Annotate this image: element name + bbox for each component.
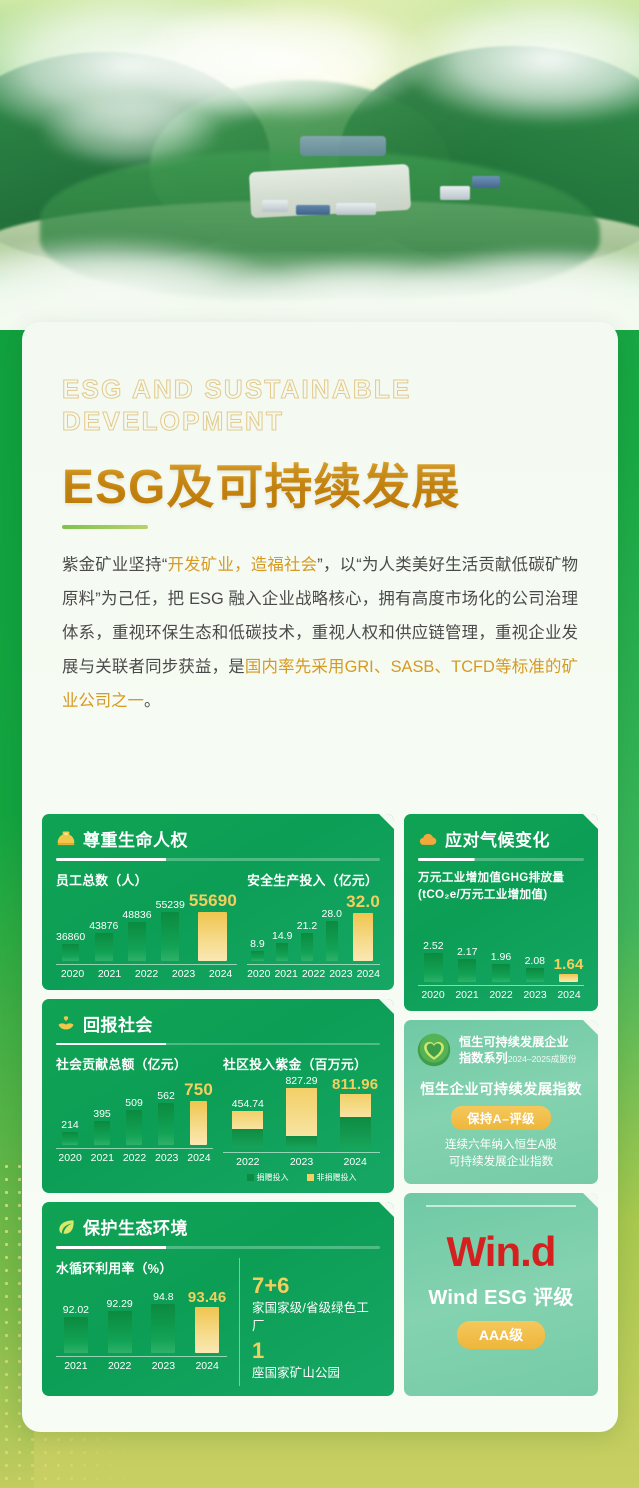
- bar-value: 43876: [89, 920, 118, 932]
- bar-highlight: [559, 974, 577, 981]
- card-header: 保护生态环境: [56, 1214, 380, 1246]
- header-divider: [56, 1246, 380, 1249]
- bar-value-highlight: 811.96: [332, 1076, 378, 1093]
- ecology-row: 水循环利用率（%） 92.02 92.29 94.8 93.46 2021 20…: [56, 1258, 380, 1386]
- bar-value: 92.02: [63, 1304, 89, 1316]
- cloud: [40, 96, 220, 166]
- chart-employee-total: 员工总数（人） 36860 43876 48836 55239 55690 20…: [56, 870, 237, 980]
- x-tick: 2024: [330, 1156, 380, 1168]
- x-tick: 2024: [554, 989, 584, 1001]
- x-tick: 2024: [187, 1360, 227, 1372]
- bar-value: 454.74: [232, 1098, 264, 1110]
- cloud-icon: [418, 829, 438, 849]
- card-title: 应对气候变化: [445, 826, 550, 851]
- x-tick-labels: 2020 2021 2022 2023 2024: [418, 989, 584, 1001]
- hs-sub-line2: 可持续发展企业指数: [416, 1153, 586, 1170]
- chart-ghg-intensity: 万元工业增加值GHG排放量 (tCO₂e/万元工业增加值) 2.52 2.17 …: [418, 870, 584, 1001]
- chart-title-line1: 万元工业增加值GHG排放量: [418, 870, 584, 885]
- bar-column: 562: [152, 1075, 180, 1145]
- segment-donation: [232, 1129, 263, 1149]
- bar-value-highlight: 1.64: [554, 956, 584, 973]
- card-header: 应对气候变化: [418, 826, 584, 858]
- chart-title: 社会贡献总额（亿元）: [56, 1054, 213, 1073]
- bar-value-highlight: 750: [184, 1080, 213, 1100]
- x-axis: [56, 964, 237, 965]
- hs-line1: 恒生可持续发展企业: [459, 1034, 577, 1050]
- x-tick: 2021: [452, 989, 482, 1001]
- stacked-bar-plot: 454.74 827.29: [223, 1075, 380, 1149]
- bar: [64, 1317, 88, 1353]
- chart-title: 社区投入紫金（百万元）: [223, 1054, 380, 1073]
- bar-column: 93.46: [187, 1279, 227, 1353]
- hs-line2: 指数系列2024–2025成股份: [459, 1050, 577, 1066]
- legend-item-donation: 捐赠投入: [247, 1172, 289, 1183]
- bar-value: 48836: [122, 909, 151, 921]
- content-panel: ESG AND SUSTAINABLE DEVELOPMENT ESG及可持续发…: [22, 322, 618, 1432]
- building: [296, 205, 330, 215]
- bar-highlight: [353, 913, 373, 961]
- bar-column: 1.64: [553, 916, 584, 982]
- bar: [62, 1132, 79, 1145]
- x-tick-labels: 2020 2021 2022 2023 2024: [247, 968, 380, 980]
- bar: [251, 951, 263, 960]
- bar-value: 1.96: [491, 951, 511, 963]
- x-tick-labels: 2020 2021 2022 2023 2024: [56, 1152, 213, 1164]
- x-axis: [56, 1356, 227, 1357]
- hero-landscape-image: [0, 0, 639, 330]
- bar-plot: 92.02 92.29 94.8 93.46: [56, 1279, 227, 1353]
- bar: [108, 1311, 132, 1352]
- bar: [492, 964, 510, 981]
- bar-column: 48836: [122, 891, 151, 961]
- chart-title: 安全生产投入（亿元）: [247, 870, 380, 889]
- vertical-divider: [239, 1258, 240, 1386]
- x-tick: 2021: [56, 1360, 96, 1372]
- intro-text-3: 。: [144, 692, 160, 710]
- bar-plot: 214 395 509 562 750: [56, 1075, 213, 1145]
- x-tick: 2022: [100, 1360, 140, 1372]
- legend-swatch-green: [247, 1174, 254, 1181]
- bar-highlight: [190, 1101, 207, 1145]
- segment-non-donation: [286, 1088, 317, 1136]
- bar-column: 14.9: [272, 891, 293, 961]
- chart-safety-investment: 安全生产投入（亿元） 8.9 14.9 21.2 28.0 32.0 2020 …: [247, 870, 380, 980]
- title-block: ESG AND SUSTAINABLE DEVELOPMENT ESG及可持续发…: [22, 322, 618, 529]
- x-axis: [223, 1152, 380, 1153]
- x-tick: 2020: [247, 968, 270, 980]
- chart-title: 员工总数（人）: [56, 870, 237, 889]
- x-tick: 2022: [223, 1156, 273, 1168]
- bar-column: 509: [120, 1075, 148, 1145]
- bar: [424, 953, 442, 982]
- building: [440, 186, 470, 200]
- bar-value-highlight: 93.46: [188, 1289, 227, 1306]
- heart-in-hand-icon: [56, 1013, 76, 1033]
- intro-paragraph: 紫金矿业坚持“开发矿业，造福社会”，以“为人类美好生活贡献低碳矿物原料”为己任，…: [62, 549, 578, 718]
- bar-column: 55239: [156, 891, 185, 961]
- hang-seng-headline: 恒生企业可持续发展指数: [416, 1078, 586, 1099]
- bar: [126, 1110, 143, 1145]
- x-axis: [247, 964, 380, 965]
- bar: [128, 922, 146, 961]
- bar-value: 214: [61, 1119, 79, 1131]
- mine-park-count: 1: [252, 1339, 380, 1362]
- card-title: 尊重生命人权: [83, 826, 188, 851]
- chart-title-line2: (tCO₂e/万元工业增加值): [418, 887, 584, 902]
- x-tick: 2020: [56, 1152, 84, 1164]
- wind-divider: [426, 1205, 576, 1207]
- hard-hat-icon: [56, 829, 76, 849]
- bar-value: 2.52: [423, 940, 443, 952]
- intro-text-1: 紫金矿业坚持“: [62, 556, 167, 574]
- bar-value: 509: [125, 1097, 143, 1109]
- building: [262, 200, 288, 212]
- bar-column: 2.17: [452, 916, 483, 982]
- bar: [62, 944, 80, 961]
- bar-value: 28.0: [322, 908, 342, 920]
- bar-value: 92.29: [106, 1298, 132, 1310]
- bar-value: 55239: [156, 899, 185, 911]
- green-factory-label: 家国家级/省级绿色工厂: [252, 1298, 380, 1334]
- x-tick: 2022: [130, 968, 163, 980]
- x-tick: 2023: [277, 1156, 327, 1168]
- bar-column: 2.08: [519, 916, 550, 982]
- bar-value: 14.9: [272, 930, 292, 942]
- stacked-bar: [286, 1088, 317, 1149]
- x-tick: 2023: [167, 968, 200, 980]
- hang-seng-rating-badge: 保持A–评级: [451, 1106, 551, 1130]
- x-tick-labels: 2020 2021 2022 2023 2024: [56, 968, 237, 980]
- bar-column: 55690: [189, 891, 237, 961]
- bar-column: 827.29: [277, 1075, 327, 1149]
- bar: [95, 933, 113, 961]
- bar-value: 395: [93, 1108, 111, 1120]
- card-header: 回报社会: [56, 1011, 380, 1043]
- hang-seng-logo-row: 恒生可持续发展企业 指数系列2024–2025成股份: [416, 1032, 586, 1068]
- bar-value: 562: [157, 1090, 175, 1102]
- x-tick: 2020: [56, 968, 89, 980]
- x-tick: 2023: [153, 1152, 181, 1164]
- bar-column: 214: [56, 1075, 84, 1145]
- title-underline: [62, 525, 148, 529]
- bar-plot: 8.9 14.9 21.2 28.0 32.0: [247, 891, 380, 961]
- bar-column: 395: [88, 1075, 116, 1145]
- bar-value: 36860: [56, 931, 85, 943]
- wind-rating-label: Wind ESG 评级: [416, 1281, 586, 1310]
- x-tick: 2023: [329, 968, 352, 980]
- charts-row: 员工总数（人） 36860 43876 48836 55239 55690 20…: [56, 870, 380, 980]
- segment-non-donation: [232, 1111, 263, 1130]
- bar-column: 43876: [89, 891, 118, 961]
- bar: [161, 912, 179, 961]
- x-tick-labels: 2022 2023 2024: [223, 1156, 380, 1168]
- bar-column: 21.2: [297, 891, 318, 961]
- bar-column: 36860: [56, 891, 85, 961]
- building: [336, 203, 376, 215]
- chart-community-investment: 社区投入紫金（百万元） 454.74 827.29: [223, 1054, 380, 1183]
- legend-label: 非捐赠投入: [317, 1172, 357, 1183]
- card-climate: 应对气候变化 万元工业增加值GHG排放量 (tCO₂e/万元工业增加值) 2.5…: [404, 814, 598, 1011]
- x-tick: 2024: [204, 968, 237, 980]
- bar-value: 94.8: [153, 1291, 173, 1303]
- cards-grid: 尊重生命人权 员工总数（人） 36860 43876 48836 55239 5…: [42, 814, 598, 1396]
- chart-social-contribution: 社会贡献总额（亿元） 214 395 509 562 750 2020 2021: [56, 1054, 213, 1183]
- x-tick: 2021: [93, 968, 126, 980]
- card-hang-seng-index: 恒生可持续发展企业 指数系列2024–2025成股份 恒生企业可持续发展指数 保…: [404, 1020, 598, 1185]
- x-axis: [418, 985, 584, 986]
- right-column: 应对气候变化 万元工业增加值GHG排放量 (tCO₂e/万元工业增加值) 2.5…: [404, 814, 598, 1396]
- building: [472, 176, 500, 188]
- x-tick: 2020: [418, 989, 448, 1001]
- stacked-bar: [232, 1111, 263, 1149]
- bar-column: 2.52: [418, 916, 449, 982]
- mine-park-label: 座国家矿山公园: [252, 1363, 380, 1381]
- segment-donation: [340, 1117, 371, 1149]
- intro-highlight-1: 开发矿业，造福社会: [167, 556, 317, 574]
- bar-column: 454.74: [223, 1075, 273, 1149]
- bar: [301, 933, 313, 961]
- page-title: ESG及可持续发展: [62, 447, 578, 517]
- bar-value: 2.08: [525, 955, 545, 967]
- chart-legend: 捐赠投入 非捐赠投入: [223, 1172, 380, 1183]
- hang-seng-index-name: 恒生可持续发展企业 指数系列2024–2025成股份: [459, 1034, 577, 1066]
- x-tick: 2023: [144, 1360, 184, 1372]
- x-tick: 2023: [520, 989, 550, 1001]
- segment-donation: [286, 1136, 317, 1149]
- legend-swatch-yellow: [307, 1174, 314, 1181]
- wind-logo: Win.d: [416, 1231, 586, 1273]
- bar-value-highlight: 55690: [189, 891, 237, 911]
- card-ecology: 保护生态环境 水循环利用率（%） 92.02 92.29 94.8 93.46: [42, 1202, 394, 1396]
- bar-column: 1.96: [486, 916, 517, 982]
- hero-bottom-fade: [0, 250, 639, 330]
- x-axis: [56, 1148, 213, 1149]
- left-column: 尊重生命人权 员工总数（人） 36860 43876 48836 55239 5…: [42, 814, 394, 1396]
- bar-highlight: [195, 1307, 219, 1353]
- legend-label: 捐赠投入: [257, 1172, 289, 1183]
- hs-years: 2024–2025成股份: [508, 1054, 577, 1064]
- card-title: 回报社会: [83, 1011, 153, 1036]
- card-header: 尊重生命人权: [56, 826, 380, 858]
- ecology-stats: 7+6 家国家级/省级绿色工厂 1 座国家矿山公园: [252, 1258, 380, 1386]
- bar-column: 750: [184, 1075, 213, 1145]
- card-society: 回报社会 社会贡献总额（亿元） 214 395 509 562 750: [42, 999, 394, 1194]
- bar-value: 2.17: [457, 946, 477, 958]
- x-tick: 2024: [185, 1152, 213, 1164]
- bar-value: 8.9: [250, 938, 265, 950]
- bar-plot: 2.52 2.17 1.96 2.08 1.64: [418, 916, 584, 982]
- header-divider: [418, 858, 584, 861]
- x-tick: 2021: [88, 1152, 116, 1164]
- tailings-pond: [300, 136, 386, 156]
- bar-column: 32.0: [346, 891, 380, 961]
- legend-item-non-donation: 非捐赠投入: [307, 1172, 357, 1183]
- x-tick: 2022: [486, 989, 516, 1001]
- card-title: 保护生态环境: [83, 1214, 188, 1239]
- header-divider: [56, 858, 380, 861]
- bar-column: 92.02: [56, 1279, 96, 1353]
- bar: [458, 959, 476, 982]
- bar-column: 94.8: [144, 1279, 184, 1353]
- bar: [94, 1121, 111, 1146]
- wind-content: Win.d Wind ESG 评级 AAA级: [416, 1225, 586, 1349]
- leaf-icon: [56, 1217, 76, 1237]
- card-wind-esg: Win.d Wind ESG 评级 AAA级: [404, 1193, 598, 1395]
- bar-value-highlight: 32.0: [346, 892, 380, 912]
- bar: [276, 943, 288, 961]
- bar-column: 8.9: [247, 891, 268, 961]
- x-tick: 2022: [302, 968, 325, 980]
- header-divider: [56, 1043, 380, 1046]
- bar-highlight: [198, 912, 227, 961]
- chart-water-recycling: 水循环利用率（%） 92.02 92.29 94.8 93.46 2021 20…: [56, 1258, 227, 1372]
- bar: [526, 968, 544, 981]
- bar-plot: 36860 43876 48836 55239 55690: [56, 891, 237, 961]
- wind-rating-badge: AAA级: [457, 1321, 545, 1349]
- x-tick: 2024: [357, 968, 380, 980]
- x-tick: 2022: [120, 1152, 148, 1164]
- hs-sub-line1: 连续六年纳入恒生A股: [416, 1136, 586, 1153]
- segment-non-donation: [340, 1094, 371, 1117]
- green-factory-count: 7+6: [252, 1274, 380, 1297]
- bar: [151, 1304, 175, 1353]
- x-tick: 2021: [274, 968, 297, 980]
- bar-column: 28.0: [321, 891, 342, 961]
- bar: [326, 921, 338, 961]
- bar-column: 811.96: [330, 1075, 380, 1149]
- chart-title: 水循环利用率（%）: [56, 1258, 227, 1277]
- hang-seng-heart-logo: [416, 1032, 452, 1068]
- x-tick-labels: 2021 2022 2023 2024: [56, 1360, 227, 1372]
- hang-seng-subtext: 连续六年纳入恒生A股 可持续发展企业指数: [416, 1136, 586, 1171]
- card-human-rights: 尊重生命人权 员工总数（人） 36860 43876 48836 55239 5…: [42, 814, 394, 990]
- hs-line2-text: 指数系列: [459, 1051, 508, 1065]
- bar: [158, 1103, 175, 1145]
- stacked-bar: [340, 1094, 371, 1149]
- bar-value: 21.2: [297, 920, 317, 932]
- bar-column: 92.29: [100, 1279, 140, 1353]
- page-title-english: ESG AND SUSTAINABLE DEVELOPMENT: [62, 374, 578, 437]
- charts-row: 社会贡献总额（亿元） 214 395 509 562 750 2020 2021: [56, 1054, 380, 1183]
- bar-value: 827.29: [285, 1075, 317, 1087]
